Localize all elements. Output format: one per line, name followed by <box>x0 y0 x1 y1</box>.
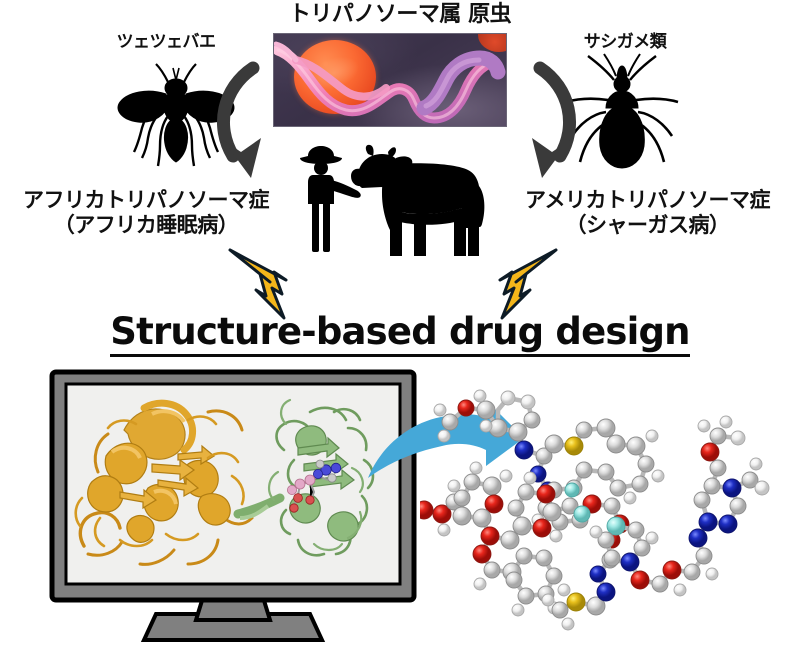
parasite-title: トリパノソーマ属 原虫 <box>0 2 800 28</box>
page-title-text: Structure-based drug design <box>110 310 689 357</box>
vector-label-tsetse-fly: ツェツェバエ <box>66 32 266 52</box>
disease-label-african: アフリカトリパノソーマ症 （アフリカ睡眠病） <box>0 188 296 238</box>
figure-canvas: トリパノソーマ属 原虫 <box>0 0 800 650</box>
disease-label-american: アメリカトリパノソーマ症 （シャーガス病） <box>495 188 800 238</box>
computer-monitor <box>48 368 418 646</box>
disease-label-american-line2: （シャーガス病） <box>495 213 800 238</box>
disease-label-african-line2: （アフリカ睡眠病） <box>0 213 296 238</box>
disease-label-african-line1: アフリカトリパノソーマ症 <box>23 188 269 212</box>
disease-label-american-line1: アメリカトリパノソーマ症 <box>525 188 770 212</box>
designed-compound-models <box>420 380 800 648</box>
page-title: Structure-based drug design <box>0 310 800 357</box>
farmer-and-cow-silhouette-icon <box>296 138 496 260</box>
compound-left <box>420 462 590 616</box>
